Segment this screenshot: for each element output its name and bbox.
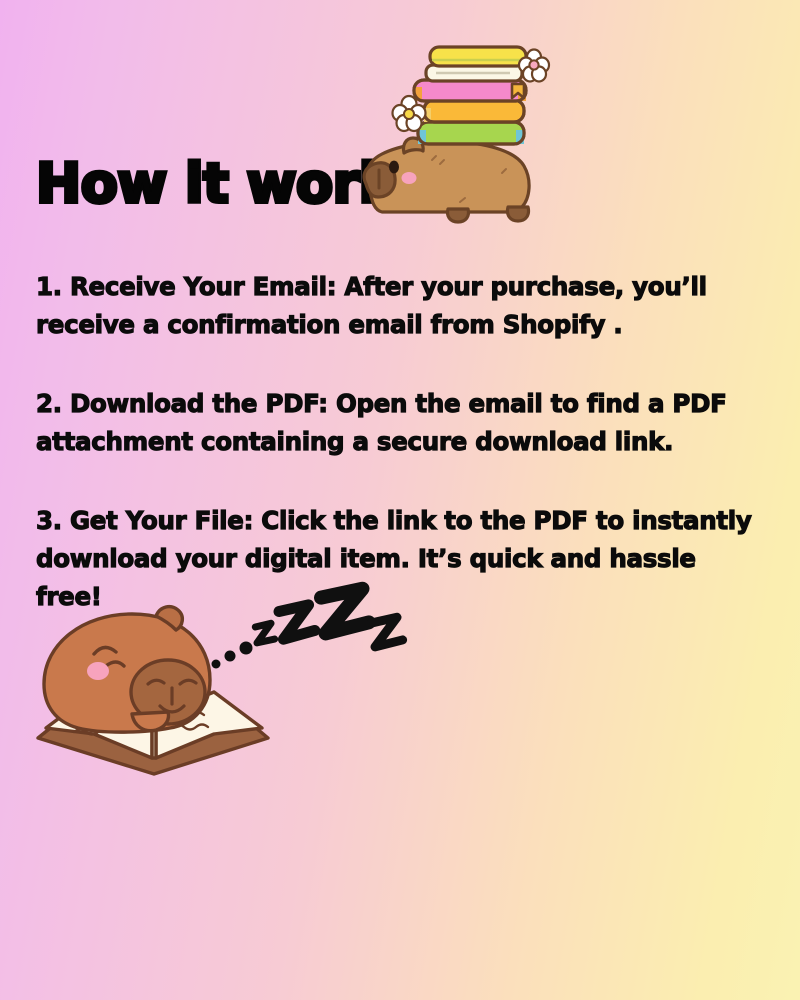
sleep-z-letters [255,588,403,647]
book-pink [414,80,526,101]
step-item: 1. Receive Your Email: After your purcha… [36,268,762,344]
capybara-cheek [87,662,109,680]
book-orange [424,100,524,122]
step-item: 2. Download the PDF: Open the email to f… [36,385,762,461]
capybara-body [364,138,529,222]
poster-canvas: How it works [0,0,800,1000]
book-yellow [430,47,526,66]
sleep-dots [212,642,253,669]
capybara-with-book-stack-illustration [352,52,548,242]
capybara-eye [389,161,399,174]
capybara-cheek [402,172,417,184]
sleep-zzz-text [208,586,418,682]
steps-list: 1. Receive Your Email: After your purcha… [36,268,762,616]
capybara-body [44,607,210,733]
book-green [418,122,524,144]
